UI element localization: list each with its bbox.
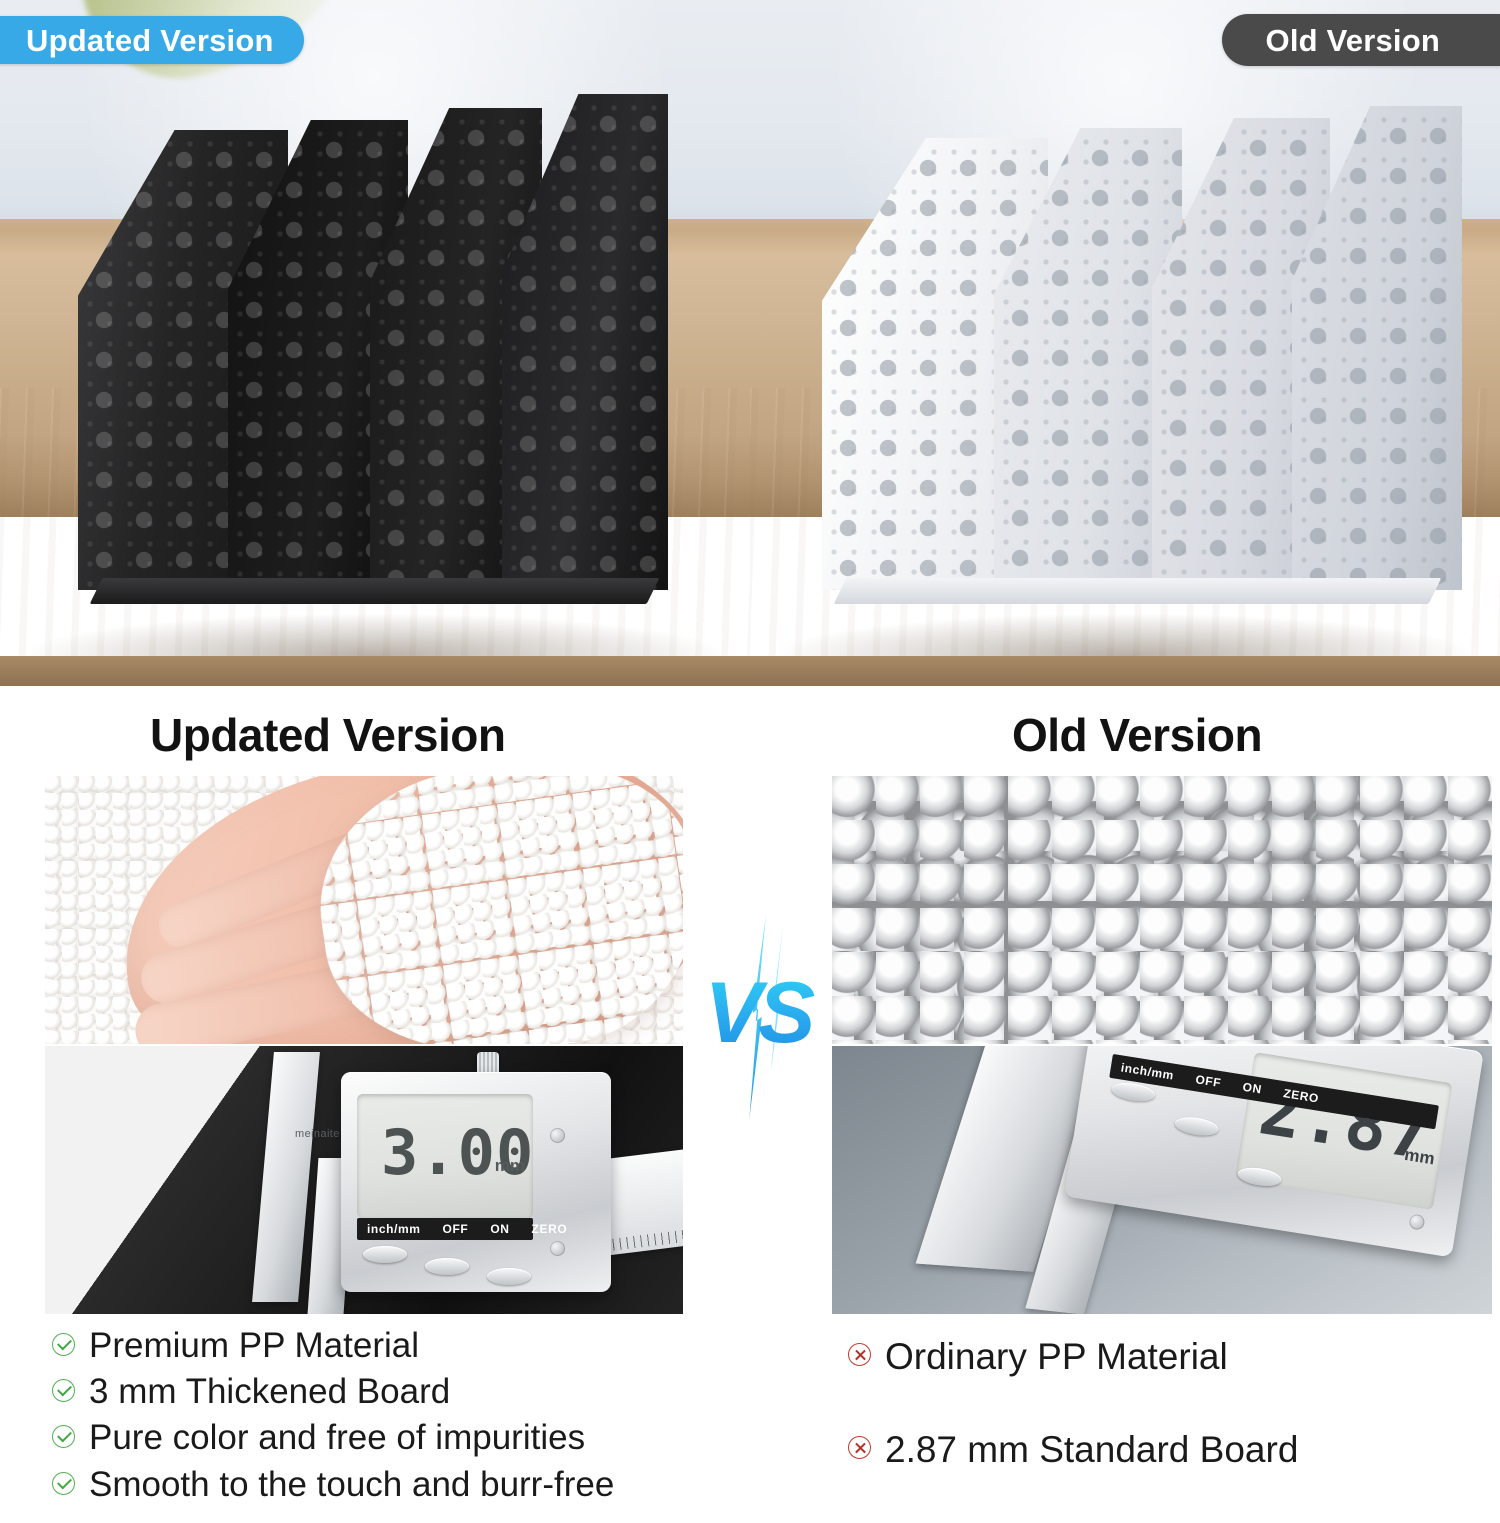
heading-old-version: Old Version xyxy=(1012,708,1262,762)
photo-caliper-updated: meinaite 3.00 mm inch/mm OFF ON ZERO xyxy=(45,1046,683,1314)
product-shadow xyxy=(780,614,1470,656)
organizer-panel xyxy=(1292,106,1462,590)
organizer-base xyxy=(90,578,659,604)
check-circle-icon xyxy=(52,1333,75,1356)
hero-right-photo: Old Version xyxy=(750,0,1500,686)
list-item: 3 mm Thickened Board xyxy=(52,1372,614,1411)
caliper-off-label: OFF xyxy=(443,1222,469,1236)
list-item: 2.87 mm Standard Board xyxy=(848,1429,1298,1470)
feature-list-updated: Premium PP Material 3 mm Thickened Board… xyxy=(52,1326,614,1511)
photo-caliper-old: 2.87 mm inch/mm OFF ON ZERO xyxy=(832,1046,1492,1314)
white-file-organizer xyxy=(822,100,1442,590)
caliper-screw xyxy=(550,1128,565,1143)
feature-list-old: Ordinary PP Material 2.87 mm Standard Bo… xyxy=(848,1336,1298,1523)
list-item: Premium PP Material xyxy=(52,1326,614,1365)
list-item: Smooth to the touch and burr-free xyxy=(52,1465,614,1504)
photo-ordinary-pellets xyxy=(832,776,1492,1044)
caliper-lcd-screen: 2.87 mm xyxy=(1235,1052,1453,1210)
vs-label: VS xyxy=(683,964,833,1063)
check-circle-icon xyxy=(52,1472,75,1495)
heading-updated-version: Updated Version xyxy=(150,708,505,762)
badge-old-version: Old Version xyxy=(1222,14,1500,66)
organizer-base xyxy=(834,578,1442,604)
product-shadow xyxy=(30,614,720,656)
feature-label: 3 mm Thickened Board xyxy=(89,1372,450,1411)
desk-edge xyxy=(0,656,750,686)
caliper-button xyxy=(363,1246,407,1263)
caliper-button xyxy=(425,1258,469,1275)
list-item: Pure color and free of impurities xyxy=(52,1418,614,1457)
hero-photo-section: Updated Version xyxy=(0,0,1500,686)
palm-pellets xyxy=(303,776,683,1044)
caliper-on-label: ON xyxy=(1242,1080,1263,1097)
cross-circle-icon xyxy=(848,1436,871,1459)
pellet-bed xyxy=(832,776,1492,1044)
list-item: Ordinary PP Material xyxy=(848,1336,1298,1377)
organizer-panel xyxy=(502,94,668,590)
vs-separator: VS xyxy=(683,912,833,1122)
product-comparison-page: Updated Version xyxy=(0,0,1500,1480)
feature-label: Premium PP Material xyxy=(89,1326,419,1365)
feature-label: 2.87 mm Standard Board xyxy=(885,1429,1298,1470)
photo-white-pellets-in-hand xyxy=(45,776,683,1044)
badge-updated-version: Updated Version xyxy=(0,16,304,64)
check-circle-icon xyxy=(52,1425,75,1448)
check-circle-icon xyxy=(52,1379,75,1402)
caliper-unit: mm xyxy=(495,1156,525,1176)
caliper-zero-label: ZERO xyxy=(1282,1086,1319,1105)
feature-label: Pure color and free of impurities xyxy=(89,1418,585,1457)
cross-circle-icon xyxy=(848,1343,871,1366)
caliper-body: 3.00 mm inch/mm OFF ON ZERO xyxy=(341,1072,611,1292)
caliper-screw xyxy=(1408,1213,1425,1230)
caliper-off-label: OFF xyxy=(1194,1072,1222,1090)
caliper-screw xyxy=(550,1241,565,1256)
caliper-button xyxy=(487,1268,531,1285)
material-comparison-section: Updated Version Old Version meinaite xyxy=(0,686,1500,1480)
caliper-mode-label: inch/mm xyxy=(1120,1060,1175,1082)
caliper-reading: 3.00 xyxy=(381,1116,533,1189)
caliper-button-strip: inch/mm OFF ON ZERO xyxy=(357,1218,533,1240)
caliper-on-label: ON xyxy=(490,1222,509,1236)
desk-edge xyxy=(750,656,1500,686)
caliper-mode-label: inch/mm xyxy=(367,1222,421,1236)
black-file-organizer xyxy=(78,70,658,590)
caliper-button xyxy=(1174,1115,1220,1139)
feature-label: Smooth to the touch and burr-free xyxy=(89,1465,614,1504)
caliper-lcd-screen: 3.00 mm xyxy=(357,1094,533,1218)
badge-updated-label: Updated Version xyxy=(26,25,274,56)
hero-left-photo: Updated Version xyxy=(0,0,750,686)
caliper-brand-label: meinaite xyxy=(295,1128,340,1140)
feature-label: Ordinary PP Material xyxy=(885,1336,1228,1377)
caliper-zero-label: ZERO xyxy=(532,1222,568,1236)
badge-old-label: Old Version xyxy=(1266,25,1440,56)
